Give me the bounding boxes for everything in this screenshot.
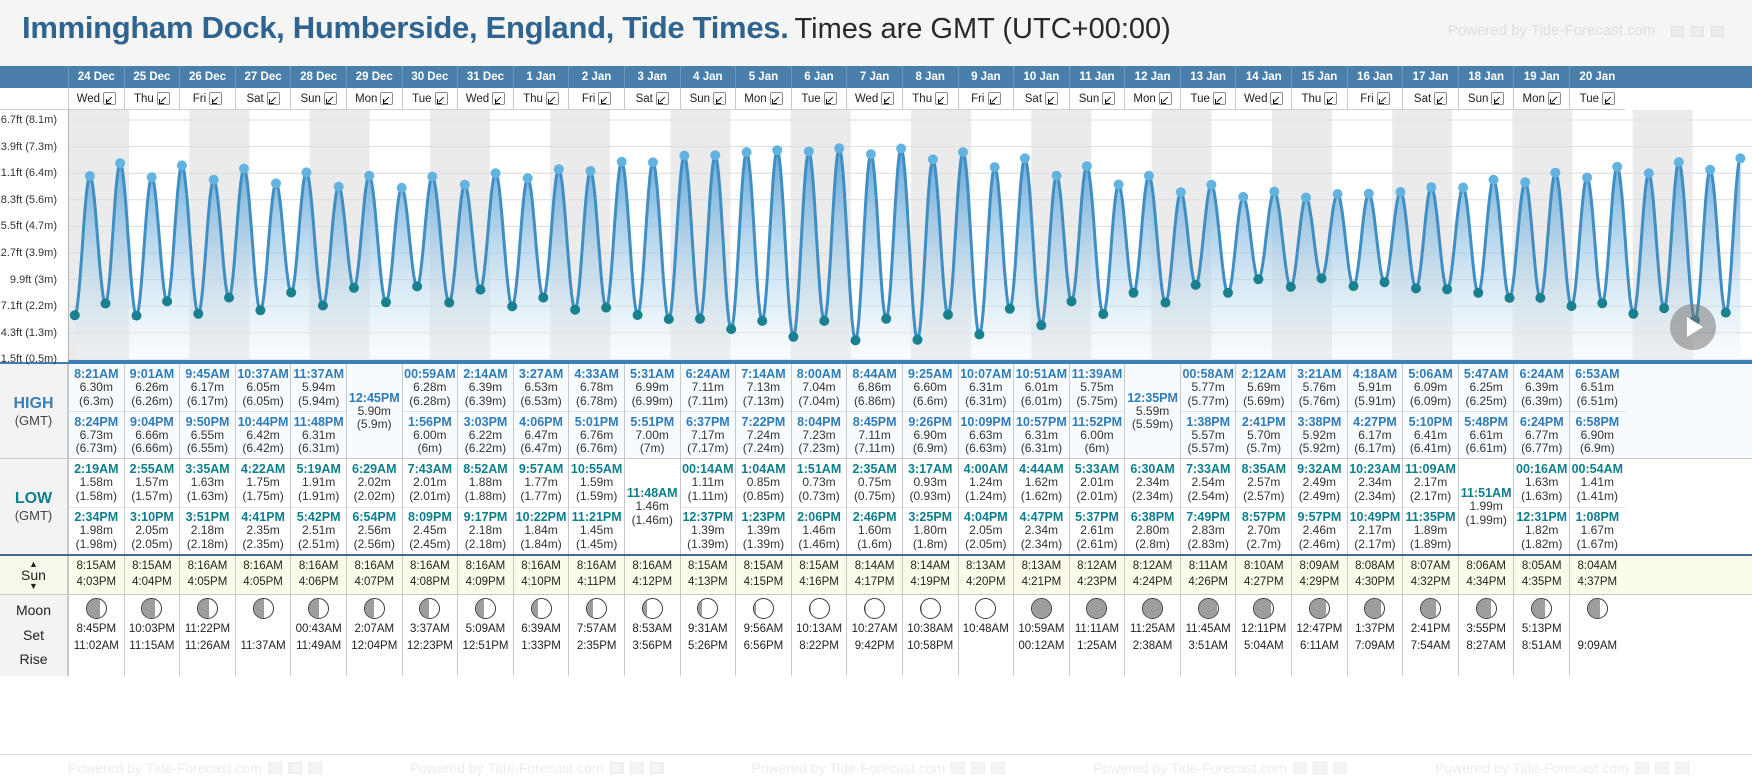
tide-height: 6.78m	[580, 381, 613, 394]
moon-phase-icon	[1086, 598, 1107, 619]
tide-extreme-point[interactable]	[444, 298, 454, 308]
tide-height: 7.04m	[802, 381, 835, 394]
tide-extreme-point[interactable]	[412, 281, 422, 291]
tide-height: 5.77m	[1191, 381, 1224, 394]
weekday-label: Sun	[690, 93, 710, 105]
tide-extreme-point[interactable]	[209, 175, 219, 185]
tide-extreme-point[interactable]	[617, 157, 627, 167]
expand-icon[interactable]	[103, 92, 116, 105]
tide-extreme-point[interactable]	[679, 151, 689, 161]
tide-entry: 6:30AM2.34m(2.34m)	[1125, 459, 1180, 507]
tide-height: 2.61m	[1080, 524, 1113, 537]
tide-extreme-point[interactable]	[1520, 177, 1530, 187]
tide-extreme-point[interactable]	[913, 335, 923, 345]
tide-extreme-point[interactable]	[491, 168, 501, 178]
tide-extreme-point[interactable]	[896, 144, 906, 154]
tide-extreme-point[interactable]	[554, 164, 564, 174]
tide-extreme-point[interactable]	[1458, 183, 1468, 193]
tide-cell: 11:51AM1.99m(1.99m)	[1458, 459, 1514, 554]
weekday-header-cell[interactable]: Sun	[1069, 88, 1125, 110]
tide-extreme-point[interactable]	[1396, 187, 1406, 197]
tide-height: 6.63m	[969, 429, 1002, 442]
tide-extreme-point[interactable]	[851, 335, 861, 345]
expand-icon[interactable]	[935, 92, 948, 105]
tide-extreme-point[interactable]	[1317, 273, 1327, 283]
moon-shadow	[698, 598, 701, 619]
tide-extreme-point[interactable]	[85, 171, 95, 181]
expand-icon[interactable]	[824, 92, 837, 105]
tide-height: 1.82m	[1525, 524, 1558, 537]
tide-entry: 9:25AM6.60m(6.6m)	[903, 364, 958, 411]
tide-time: 10:49PM	[1350, 510, 1401, 524]
moon-cell: 8:53AM3:56PM	[624, 595, 680, 676]
tide-extreme-point[interactable]	[460, 180, 470, 190]
tide-entry: 11:39AM5.75m(5.75m)	[1070, 364, 1125, 411]
tide-extreme-point[interactable]	[70, 310, 80, 320]
weekday-header-cell[interactable]: Fri	[958, 88, 1014, 110]
tide-time: 12:35PM	[1127, 391, 1178, 405]
sunset-time: 4:34PM	[1466, 575, 1506, 591]
weekday-header-cell[interactable]: Tue	[1569, 88, 1625, 110]
tide-extreme-point[interactable]	[804, 147, 814, 157]
tide-entry: 7:14AM7.13m(7.13m)	[736, 364, 791, 411]
tide-time: 11:52PM	[1072, 415, 1122, 429]
moon-set-time: 5:13PM	[1522, 621, 1562, 638]
tide-extreme-point[interactable]	[1674, 157, 1684, 167]
tide-height-metric: (2.51m)	[298, 538, 339, 551]
weekday-header-cell[interactable]: Sat	[235, 88, 291, 110]
expand-icon[interactable]	[598, 92, 611, 105]
tide-entry: 11:51AM1.99m(1.99m)	[1459, 459, 1514, 554]
expand-icon[interactable]	[380, 92, 393, 105]
weekday-header-cell[interactable]: Wed	[1235, 88, 1291, 110]
moon-cell: 11:37AM	[235, 595, 291, 676]
tide-height-metric: (6.78m)	[576, 395, 617, 408]
tide-extreme-point[interactable]	[928, 154, 938, 164]
tide-extreme-point[interactable]	[286, 288, 296, 298]
tide-extreme-point[interactable]	[147, 172, 157, 182]
tide-extreme-point[interactable]	[162, 296, 172, 306]
expand-icon[interactable]	[1602, 92, 1615, 105]
tide-chart-plot[interactable]	[68, 110, 1752, 362]
tide-time: 8:24PM	[74, 415, 118, 429]
weekday-header-cell[interactable]: Tue	[1180, 88, 1236, 110]
tide-height: 0.93m	[914, 476, 947, 489]
sunrise-time: 8:16AM	[243, 559, 283, 575]
date-header-cell: 7 Jan	[846, 66, 902, 88]
tide-extreme-point[interactable]	[1380, 277, 1390, 287]
sunrise-time: 8:09AM	[1300, 559, 1340, 575]
expand-icon[interactable]	[157, 92, 170, 105]
tide-extreme-point[interactable]	[866, 149, 876, 159]
weekday-header-cell[interactable]: Thu	[124, 88, 180, 110]
tide-height-metric: (6.22m)	[465, 442, 506, 455]
tide-height: 1.91m	[302, 476, 335, 489]
moon-set-time: 10:27AM	[852, 621, 898, 638]
moon-cell: 2:07AM12:04PM	[346, 595, 402, 676]
tide-entry: 11:52PM6.00m(6m)	[1070, 411, 1125, 458]
tide-extreme-point[interactable]	[193, 309, 203, 319]
weekday-header-cell[interactable]: Mon	[1124, 88, 1180, 110]
moon-set-time: 10:13AM	[796, 621, 842, 638]
tide-extreme-point[interactable]	[507, 301, 517, 311]
tide-extreme-point[interactable]	[710, 150, 720, 160]
tide-entry: 8:45PM7.11m(7.11m)	[847, 411, 902, 458]
sunset-time: 4:08PM	[410, 575, 450, 591]
moon-shadow	[1532, 598, 1545, 619]
weekday-header-cell[interactable]: Sat	[1013, 88, 1069, 110]
tide-extreme-point[interactable]	[1505, 293, 1515, 303]
tide-extreme-point[interactable]	[664, 314, 674, 324]
tide-extreme-point[interactable]	[1333, 189, 1343, 199]
tide-extreme-point[interactable]	[601, 303, 611, 313]
tide-extreme-point[interactable]	[1206, 180, 1216, 190]
expand-icon[interactable]	[1213, 92, 1226, 105]
tide-extreme-point[interactable]	[757, 316, 767, 326]
tide-extreme-point[interactable]	[349, 283, 359, 293]
weekday-header-cell[interactable]: Thu	[513, 88, 569, 110]
date-header-corner	[0, 66, 68, 88]
tide-extreme-point[interactable]	[1659, 303, 1669, 313]
tide-height-metric: (7m)	[640, 442, 665, 455]
moon-phase-icon	[1476, 598, 1497, 619]
weekday-header-cell[interactable]: Tue	[402, 88, 458, 110]
tide-extreme-point[interactable]	[255, 305, 265, 315]
tide-height: 2.83m	[1191, 524, 1224, 537]
tide-cell: 2:35AM0.75m(0.75m)2:46PM1.60m(1.6m)	[846, 459, 902, 554]
tide-height: 1.88m	[469, 476, 502, 489]
tide-extreme-point[interactable]	[974, 330, 984, 340]
tide-extreme-point[interactable]	[1223, 288, 1233, 298]
tide-height: 6.30m	[80, 381, 113, 394]
footer-watermark-text: Powered by Tide-Forecast.com	[752, 760, 946, 776]
tide-extreme-point[interactable]	[239, 164, 249, 174]
tide-extreme-point[interactable]	[695, 314, 705, 324]
tide-extreme-point[interactable]	[570, 305, 580, 315]
moon-set-time: 11:45AM	[1186, 621, 1231, 638]
tide-extreme-point[interactable]	[1349, 281, 1359, 291]
tide-extreme-point[interactable]	[648, 157, 658, 167]
tide-extreme-point[interactable]	[1550, 168, 1560, 178]
sun-cell: 8:16AM4:07PM	[346, 556, 402, 594]
tide-entry: 2:41PM5.70m(5.7m)	[1236, 411, 1291, 458]
tide-extreme-point[interactable]	[271, 178, 281, 188]
sun-row: ▲ Sun ▼ 8:15AM4:03PM8:15AM4:04PM8:16AM4:…	[0, 554, 1752, 594]
refresh-icon	[1313, 762, 1327, 774]
weekday-header-cell[interactable]: Fri	[568, 88, 624, 110]
moon-rise-time: 2:35PM	[577, 638, 617, 655]
moon-rise-time: 11:49AM	[296, 638, 341, 655]
tide-extreme-point[interactable]	[132, 311, 142, 321]
tide-extreme-point[interactable]	[101, 299, 111, 309]
expand-icon[interactable]	[435, 92, 448, 105]
moon-cell: 11:22PM11:26AM	[179, 595, 235, 676]
expand-icon[interactable]	[546, 92, 559, 105]
tide-extreme-point[interactable]	[1535, 293, 1545, 303]
tide-height: 6.53m	[524, 381, 557, 394]
sunset-time: 4:03PM	[76, 575, 116, 591]
moon-cell: 6:39AM1:33PM	[513, 595, 569, 676]
weekday-header-cell[interactable]: Sun	[290, 88, 346, 110]
tide-extreme-point[interactable]	[943, 310, 953, 320]
moon-rise-time: 8:27AM	[1466, 638, 1506, 655]
flag-icon	[1293, 762, 1307, 774]
tide-time: 11:48AM	[627, 486, 678, 500]
tide-cell: 8:44AM6.86m(6.86m)8:45PM7.11m(7.11m)	[846, 364, 902, 458]
tide-extreme-point[interactable]	[1191, 280, 1201, 290]
moon-shadow	[142, 598, 154, 619]
expand-icon[interactable]	[1324, 92, 1337, 105]
tide-extreme-point[interactable]	[475, 285, 485, 295]
weekday-header-cell[interactable]: Thu	[1291, 88, 1347, 110]
tide-time: 8:21AM	[74, 367, 118, 381]
tide-curve-svg[interactable]	[69, 110, 1752, 360]
tide-extreme-point[interactable]	[1269, 187, 1279, 197]
expand-icon[interactable]	[209, 92, 222, 105]
tide-extreme-point[interactable]	[1005, 304, 1015, 314]
weekday-header-corner	[0, 88, 68, 110]
tide-height-metric: (1.67m)	[1577, 538, 1618, 551]
tide-time: 5:33AM	[1075, 462, 1119, 476]
sunrise-time: 8:15AM	[744, 559, 784, 575]
tide-extreme-point[interactable]	[1442, 284, 1452, 294]
expand-icon[interactable]	[881, 92, 894, 105]
tide-time: 8:44AM	[852, 367, 896, 381]
tide-time: 12:37PM	[682, 510, 733, 524]
tide-extreme-point[interactable]	[381, 297, 391, 307]
tide-extreme-point[interactable]	[224, 293, 234, 303]
moon-rise-time: 3:56PM	[632, 638, 672, 655]
tide-entry: 8:44AM6.86m(6.86m)	[847, 364, 902, 411]
tide-time: 2:06PM	[797, 510, 841, 524]
tide-extreme-point[interactable]	[881, 314, 891, 324]
tide-extreme-point[interactable]	[772, 145, 782, 155]
weekday-label: Wed	[1244, 93, 1267, 105]
tide-entry: 6:53AM6.51m(6.51m)	[1570, 364, 1625, 411]
expand-icon[interactable]	[656, 92, 669, 105]
moon-cell: 10:27AM9:42PM	[846, 595, 902, 676]
tide-extreme-point[interactable]	[1098, 309, 1108, 319]
tide-extreme-point[interactable]	[990, 162, 1000, 172]
tide-extreme-point[interactable]	[1144, 171, 1154, 181]
tide-extreme-point[interactable]	[1082, 161, 1092, 171]
tide-extreme-point[interactable]	[1489, 175, 1499, 185]
tide-time: 10:22PM	[516, 510, 567, 524]
weekday-header-cell[interactable]: Fri	[179, 88, 235, 110]
tide-extreme-point[interactable]	[1036, 320, 1046, 330]
weekday-header-cell[interactable]: Fri	[1347, 88, 1403, 110]
tide-extreme-point[interactable]	[834, 143, 844, 153]
expand-icon[interactable]	[1377, 92, 1390, 105]
weekday-header-cell[interactable]: Wed	[457, 88, 513, 110]
tide-height: 5.91m	[1358, 381, 1391, 394]
tide-cell: 2:14AM6.39m(6.39m)3:03PM6.22m(6.22m)	[457, 364, 513, 458]
tide-cell: 9:25AM6.60m(6.6m)9:26PM6.90m(6.9m)	[902, 364, 958, 458]
tide-time: 00:58AM	[1182, 367, 1233, 381]
tide-height-metric: (1.8m)	[913, 538, 948, 551]
tide-entry: 9:32AM2.49m(2.49m)	[1292, 459, 1347, 507]
tide-cell: 10:55AM1.59m(1.59m)11:21PM1.45m(1.45m)	[568, 459, 624, 554]
expand-icon[interactable]	[713, 92, 726, 105]
tide-extreme-point[interactable]	[1253, 274, 1263, 284]
tide-extreme-point[interactable]	[586, 166, 596, 176]
expand-icon[interactable]	[988, 92, 1001, 105]
tide-extreme-point[interactable]	[1705, 165, 1715, 175]
tide-extreme-point[interactable]	[177, 160, 187, 170]
sunset-time: 4:37PM	[1578, 575, 1618, 591]
tide-extreme-point[interactable]	[788, 332, 798, 342]
tide-height-metric: (2.02m)	[354, 490, 395, 503]
moon-phase-icon	[197, 598, 218, 619]
moon-cell: 10:48AM	[958, 595, 1014, 676]
tide-extreme-point[interactable]	[1052, 171, 1062, 181]
date-header-cell: 15 Jan	[1291, 66, 1347, 88]
tide-entry: 11:48PM6.31m(6.31m)	[291, 411, 346, 458]
weekday-header-cell[interactable]: Sun	[680, 88, 736, 110]
moon-phase-icon	[1531, 598, 1552, 619]
sun-cell: 8:07AM4:32PM	[1402, 556, 1458, 594]
tide-extreme-point[interactable]	[742, 147, 752, 157]
tide-extreme-point[interactable]	[1176, 187, 1186, 197]
weekday-header-cell[interactable]: Wed	[68, 88, 124, 110]
moon-phase-icon	[141, 598, 162, 619]
tide-extreme-point[interactable]	[1473, 288, 1483, 298]
tide-extreme-point[interactable]	[1597, 298, 1607, 308]
sun-cell: 8:16AM4:05PM	[179, 556, 235, 594]
expand-icon[interactable]	[1045, 92, 1058, 105]
tide-extreme-point[interactable]	[334, 182, 344, 192]
weekday-header-cell[interactable]: Mon	[1513, 88, 1569, 110]
tide-extreme-point[interactable]	[427, 172, 437, 182]
moon-shadow	[1421, 598, 1436, 619]
tide-height: 1.63m	[1525, 476, 1558, 489]
sunset-time: 4:23PM	[1077, 575, 1117, 591]
tide-cell: 11:39AM5.75m(5.75m)11:52PM6.00m(6m)	[1069, 364, 1125, 458]
weekday-header-cell[interactable]: Thu	[902, 88, 958, 110]
tide-extreme-point[interactable]	[1301, 193, 1311, 203]
tide-height: 6.17m	[191, 381, 224, 394]
expand-icon[interactable]	[1102, 92, 1115, 105]
tide-extreme-point[interactable]	[1567, 301, 1577, 311]
tide-height-metric: (5.94m)	[298, 395, 339, 408]
tide-extreme-point[interactable]	[1612, 162, 1622, 172]
tide-extreme-point[interactable]	[115, 158, 125, 168]
tide-extreme-point[interactable]	[1067, 296, 1077, 306]
tide-extreme-point[interactable]	[1161, 298, 1171, 308]
weekday-header-cell[interactable]: Mon	[346, 88, 402, 110]
expand-icon[interactable]	[1159, 92, 1172, 105]
tide-height: 2.18m	[191, 524, 224, 537]
tide-extreme-point[interactable]	[1426, 182, 1436, 192]
tide-extreme-point[interactable]	[1582, 173, 1592, 183]
tide-height-metric: (2.57m)	[1243, 490, 1284, 503]
header-watermark: Powered by Tide-Forecast.com	[1448, 22, 1724, 39]
tide-extreme-point[interactable]	[1364, 189, 1374, 199]
tide-entry: 1:38PM5.57m(5.57m)	[1181, 411, 1236, 458]
expand-icon[interactable]	[770, 92, 783, 105]
tide-height: 1.62m	[1025, 476, 1058, 489]
tide-extreme-point[interactable]	[819, 316, 829, 326]
sunrise-time: 8:15AM	[76, 559, 116, 575]
tide-extreme-point[interactable]	[538, 293, 548, 303]
tide-time: 8:00AM	[797, 367, 841, 381]
expand-icon[interactable]	[1491, 92, 1504, 105]
tide-extreme-point[interactable]	[318, 301, 328, 311]
tide-extreme-point[interactable]	[397, 183, 407, 193]
play-button-overlay[interactable]	[1670, 304, 1716, 350]
moon-phase-icon	[531, 598, 552, 619]
tide-time: 6:38PM	[1131, 510, 1175, 524]
tide-height: 1.24m	[969, 476, 1002, 489]
tide-entry: 8:04PM7.23m(7.23m)	[792, 411, 847, 458]
tide-extreme-point[interactable]	[1735, 153, 1745, 163]
weekday-header-cell[interactable]: Wed	[846, 88, 902, 110]
tide-time: 6:54PM	[352, 510, 396, 524]
moon-set-time: 2:07AM	[354, 621, 394, 638]
tide-extreme-point[interactable]	[958, 147, 968, 157]
tide-extreme-point[interactable]	[1644, 168, 1654, 178]
tide-extreme-point[interactable]	[726, 324, 736, 334]
tide-extreme-point[interactable]	[1721, 308, 1731, 318]
tide-extreme-point[interactable]	[1286, 282, 1296, 292]
sun-cell: 8:16AM4:05PM	[235, 556, 291, 594]
tide-extreme-point[interactable]	[1628, 309, 1638, 319]
tide-time: 3:27AM	[519, 367, 563, 381]
tide-time: 2:34PM	[74, 510, 118, 524]
expand-icon[interactable]	[1434, 92, 1447, 105]
tide-extreme-point[interactable]	[1020, 153, 1030, 163]
tide-height-metric: (1.63m)	[1521, 490, 1562, 503]
tide-extreme-point[interactable]	[1411, 283, 1421, 293]
tide-extreme-point[interactable]	[523, 173, 533, 183]
expand-icon[interactable]	[324, 92, 337, 105]
date-header-cell: 12 Jan	[1124, 66, 1180, 88]
moon-set-time: 11:22PM	[185, 621, 230, 638]
tide-extreme-point[interactable]	[364, 171, 374, 181]
weekday-header-cell[interactable]: Sun	[1458, 88, 1514, 110]
expand-icon[interactable]	[1270, 92, 1283, 105]
tide-entry: 10:09PM6.63m(6.63m)	[959, 411, 1014, 458]
tide-extreme-point[interactable]	[301, 167, 311, 177]
moon-shadow	[1143, 598, 1162, 619]
tide-entry: 10:22PM1.84m(1.84m)	[514, 507, 569, 555]
tide-time: 2:14AM	[463, 367, 507, 381]
expand-icon[interactable]	[267, 92, 280, 105]
expand-icon[interactable]	[1548, 92, 1561, 105]
weekday-header-cell[interactable]: Mon	[735, 88, 791, 110]
tide-extreme-point[interactable]	[1129, 288, 1139, 298]
y-axis-tick-label: 1.5ft (0.5m)	[1, 353, 57, 365]
tide-extreme-point[interactable]	[633, 310, 643, 320]
tide-time: 4:47PM	[1020, 510, 1064, 524]
tide-height: 1.98m	[80, 524, 113, 537]
tide-height-metric: (7.04m)	[798, 395, 839, 408]
weekday-header-cell[interactable]: Sat	[624, 88, 680, 110]
moon-shadow	[309, 598, 319, 619]
tide-entry: 7:22PM7.24m(7.24m)	[736, 411, 791, 458]
moon-rise-time: 7:54AM	[1411, 638, 1451, 655]
tide-time: 10:51AM	[1016, 367, 1067, 381]
tide-extreme-point[interactable]	[1238, 192, 1248, 202]
weekday-header-cell[interactable]: Sat	[1402, 88, 1458, 110]
tide-entry: 2:06PM1.46m(1.46m)	[792, 507, 847, 555]
tide-extreme-point[interactable]	[1114, 180, 1124, 190]
weekday-header-cell[interactable]: Tue	[791, 88, 847, 110]
tide-height: 6.00m	[1080, 429, 1113, 442]
tide-time: 1:04AM	[741, 462, 785, 476]
expand-icon[interactable]	[492, 92, 505, 105]
sunrise-time: 8:15AM	[688, 559, 728, 575]
